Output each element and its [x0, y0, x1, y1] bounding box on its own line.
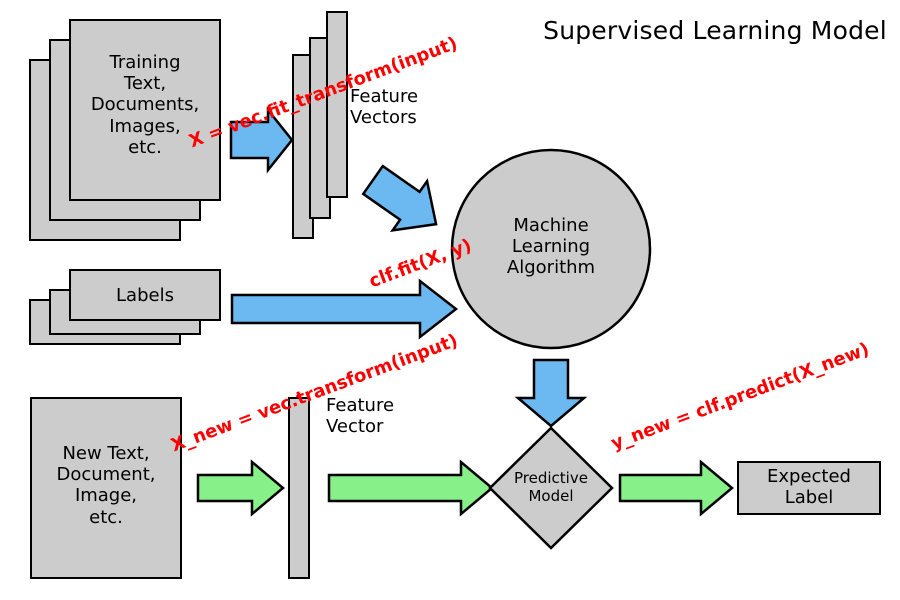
predictive-model-diamond	[490, 428, 612, 548]
green-arrow-vector-to-predictive	[329, 462, 492, 514]
green-arrow-new-data-to-vector	[198, 462, 283, 514]
diagram-canvas: Supervised Learning Model Training Text,…	[0, 0, 900, 600]
new-data-box	[31, 398, 181, 578]
ml-algorithm-circle	[452, 150, 650, 348]
training-data-card-front	[70, 20, 220, 200]
blue-arrow-features-to-model-group	[356, 155, 453, 248]
blue-arrow-features-to-model	[356, 155, 453, 248]
blue-arrow-labels-to-model	[232, 281, 456, 337]
diagram-shapes-layer	[0, 0, 900, 600]
green-arrow-predictive-to-label	[620, 462, 732, 514]
feature-vector-bar-right	[327, 12, 347, 197]
feature-vector-bar-single	[289, 398, 309, 578]
expected-label-box	[738, 462, 880, 514]
labels-card-front	[70, 270, 220, 320]
blue-arrow-model-to-predictive	[518, 360, 584, 426]
